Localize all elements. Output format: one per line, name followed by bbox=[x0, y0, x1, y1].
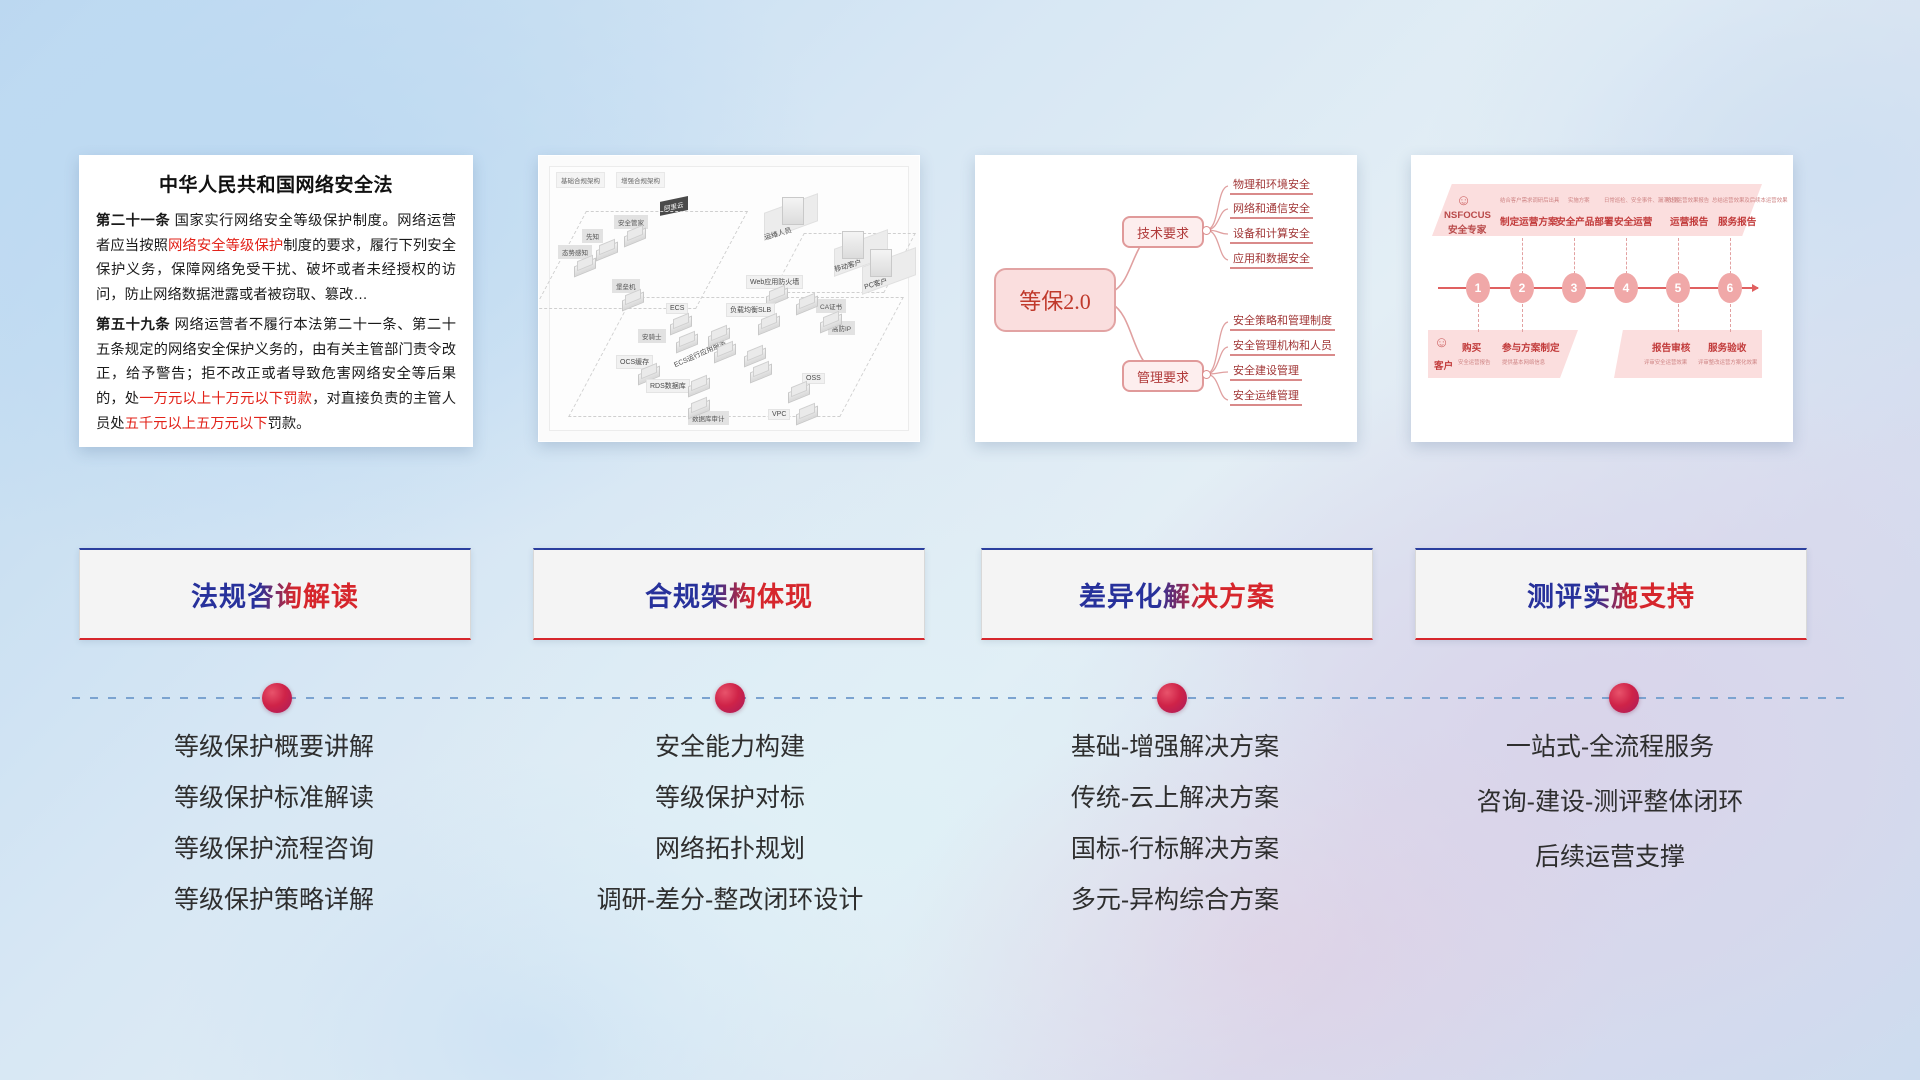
flow-bottom-label-6[interactable]: 服务验收 bbox=[1708, 340, 1746, 354]
flow-connector-5 bbox=[1678, 238, 1679, 274]
mindmap-card[interactable]: 等保2.0 技术要求 物理和环境安全 网络和通信安全 设备和计算安全 应用和数据… bbox=[975, 155, 1357, 442]
mindmap-collapse-dot-technical[interactable] bbox=[1202, 226, 1211, 235]
topology-node-taishi bbox=[572, 257, 598, 275]
topology-server-ops bbox=[782, 197, 804, 225]
flow-connector-2 bbox=[1522, 238, 1523, 274]
flow-band-customer-right bbox=[1614, 330, 1762, 378]
topology-label-vpc: VPC bbox=[768, 409, 790, 420]
provider-name: NSFOCUS bbox=[1444, 210, 1491, 221]
topology-label-rds: RDS数据库 bbox=[646, 379, 690, 393]
timeline-dot-2[interactable] bbox=[715, 683, 745, 713]
customer-person-icon: ☺ bbox=[1434, 334, 1449, 351]
list-item[interactable]: 等级保护策略详解 bbox=[64, 888, 484, 913]
topology-tab-enhanced[interactable]: 增强合规架构 bbox=[616, 172, 665, 188]
category-label-solution-text: 差异化解决方案 bbox=[1079, 575, 1275, 614]
category-label-architecture-text: 合规架构体现 bbox=[645, 575, 813, 614]
flow-top-label-3[interactable]: 安全运营 bbox=[1614, 214, 1652, 228]
list-item[interactable]: 调研-差分-整改闭环设计 bbox=[520, 888, 940, 913]
timeline-track bbox=[72, 697, 1848, 699]
topology-node-guanjia bbox=[622, 227, 648, 245]
topology-node-app-2 bbox=[712, 343, 738, 361]
mindmap-leaf-tech-1[interactable]: 物理和环境安全 bbox=[1230, 176, 1313, 195]
category-label-row: 法规咨询解读 合规架构体现 差异化解决方案 测评实施支持 bbox=[0, 548, 1920, 640]
list-item[interactable]: 等级保护对标 bbox=[520, 786, 940, 811]
flow-top-sub-5: 总结运营效果及后续本运营效果 bbox=[1712, 196, 1787, 204]
mindmap-collapse-dot-management[interactable] bbox=[1202, 370, 1211, 379]
topology-node-vpc bbox=[794, 405, 820, 423]
law-article-59-post: 罚款。 bbox=[268, 416, 311, 432]
law-article-59-number: 第五十九条 bbox=[96, 317, 170, 333]
flow-node-2[interactable]: 2 bbox=[1510, 273, 1534, 303]
flow-node-6[interactable]: 6 bbox=[1718, 273, 1742, 303]
list-item[interactable]: 基础-增强解决方案 bbox=[965, 735, 1385, 760]
mindmap-leaf-mgmt-4[interactable]: 安全运维管理 bbox=[1230, 387, 1302, 406]
mindmap-leaf-tech-3[interactable]: 设备和计算安全 bbox=[1230, 225, 1313, 244]
mindmap-leaf-mgmt-1[interactable]: 安全策略和管理制度 bbox=[1230, 312, 1335, 331]
topology-server-mobile bbox=[842, 231, 864, 259]
detail-column-row: 等级保护概要讲解 等级保护标准解读 等级保护流程咨询 等级保护策略详解 安全能力… bbox=[0, 735, 1920, 965]
detail-column-assessment: 一站式-全流程服务 咨询-建设-测评整体闭环 后续运营支撑 bbox=[1400, 735, 1820, 900]
category-label-assessment-text: 测评实施支持 bbox=[1527, 575, 1695, 614]
flow-top-sub-1: 结合客户需求调研后出具 bbox=[1500, 196, 1559, 204]
mindmap-leaf-tech-4[interactable]: 应用和数据安全 bbox=[1230, 250, 1313, 269]
flow-node-1[interactable]: 1 bbox=[1466, 273, 1490, 303]
topology-node-dbaudit bbox=[686, 399, 712, 417]
flow-top-sub-4: 阶段运营效果报告 bbox=[1666, 196, 1709, 204]
cloud-topology-card[interactable]: 基础合规架构 增强合规架构 阿里云 运维人员 移动客户 PC客户 安全管家 先知… bbox=[538, 155, 920, 442]
flow-top-sub-2: 实施方案 bbox=[1568, 196, 1590, 204]
provider-role: 安全专家 bbox=[1448, 222, 1486, 236]
topology-node-rds bbox=[686, 377, 712, 395]
flow-top-label-5[interactable]: 服务报告 bbox=[1718, 214, 1756, 228]
detail-column-regulation: 等级保护概要讲解 等级保护标准解读 等级保护流程咨询 等级保护策略详解 bbox=[64, 735, 484, 939]
list-item[interactable]: 等级保护概要讲解 bbox=[64, 735, 484, 760]
flow-bottom-sub-2: 提供基本网络信息 bbox=[1502, 358, 1545, 366]
list-item[interactable]: 多元-异构综合方案 bbox=[965, 888, 1385, 913]
timeline-dot-3[interactable] bbox=[1157, 683, 1187, 713]
law-text-card[interactable]: 中华人民共和国网络安全法 第二十一条 国家实行网络安全等级保护制度。网络运营者应… bbox=[79, 155, 473, 447]
list-item[interactable]: 传统-云上解决方案 bbox=[965, 786, 1385, 811]
flow-bottom-label-2[interactable]: 参与方案制定 bbox=[1502, 340, 1560, 354]
list-item[interactable]: 等级保护流程咨询 bbox=[64, 837, 484, 862]
detail-column-architecture: 安全能力构建 等级保护对标 网络拓扑规划 调研-差分-整改闭环设计 bbox=[520, 735, 940, 939]
list-item[interactable]: 后续运营支撑 bbox=[1400, 845, 1820, 870]
list-item[interactable]: 安全能力构建 bbox=[520, 735, 940, 760]
law-article-59-highlight: 一万元以上十万元以下罚款 bbox=[139, 391, 312, 407]
category-label-assessment[interactable]: 测评实施支持 bbox=[1415, 548, 1807, 640]
provider-person-icon: ☺ bbox=[1456, 192, 1471, 209]
service-flow-canvas: ☺ NSFOCUS 安全专家 结合客户需求调研后出具 制定运营方案 实施方案 安… bbox=[1422, 166, 1782, 431]
topology-server-pc bbox=[870, 249, 892, 277]
flow-connector-6 bbox=[1730, 238, 1731, 274]
flow-connector-3 bbox=[1574, 238, 1575, 274]
topology-label-ecs: ECS bbox=[666, 303, 688, 314]
topology-label-anqishi: 安骑士 bbox=[638, 329, 666, 343]
list-item[interactable]: 等级保护标准解读 bbox=[64, 786, 484, 811]
topology-node-gaofang bbox=[818, 313, 844, 331]
mindmap-canvas: 等保2.0 技术要求 物理和环境安全 网络和通信安全 设备和计算安全 应用和数据… bbox=[984, 164, 1348, 433]
law-article-59-highlight-2: 五千元以上五万元以下 bbox=[125, 416, 268, 432]
flow-connector-1-down bbox=[1478, 304, 1479, 332]
category-label-architecture[interactable]: 合规架构体现 bbox=[533, 548, 925, 640]
customer-role: 客户 bbox=[1434, 358, 1453, 372]
mindmap-leaf-tech-2[interactable]: 网络和通信安全 bbox=[1230, 200, 1313, 219]
flow-node-3[interactable]: 3 bbox=[1562, 273, 1586, 303]
image-card-row: 中华人民共和国网络安全法 第二十一条 国家实行网络安全等级保护制度。网络运营者应… bbox=[0, 150, 1920, 450]
topology-node-oss bbox=[786, 383, 812, 401]
mindmap-branch-management[interactable]: 管理要求 bbox=[1122, 360, 1204, 392]
flow-connector-6-down bbox=[1730, 304, 1731, 332]
law-card-title: 中华人民共和国网络安全法 bbox=[96, 170, 456, 197]
list-item[interactable]: 网络拓扑规划 bbox=[520, 837, 940, 862]
timeline-dot-4[interactable] bbox=[1609, 683, 1639, 713]
mindmap-branch-technical[interactable]: 技术要求 bbox=[1122, 216, 1204, 248]
flow-connector-4 bbox=[1626, 238, 1627, 274]
flow-connector-5-down bbox=[1678, 304, 1679, 332]
service-flow-card[interactable]: ☺ NSFOCUS 安全专家 结合客户需求调研后出具 制定运营方案 实施方案 安… bbox=[1411, 155, 1793, 442]
detail-column-solution: 基础-增强解决方案 传统-云上解决方案 国标-行标解决方案 多元-异构综合方案 bbox=[965, 735, 1385, 939]
law-article-21-number: 第二十一条 bbox=[96, 213, 170, 229]
flow-connector-2-down bbox=[1522, 304, 1523, 332]
flow-bottom-sub-6: 评审整改运营方案化效果 bbox=[1698, 358, 1757, 366]
flow-node-4[interactable]: 4 bbox=[1614, 273, 1638, 303]
flow-bottom-sub-5: 评审安全运营效果 bbox=[1644, 358, 1687, 366]
flow-bottom-label-1[interactable]: 购买 bbox=[1462, 340, 1481, 354]
category-label-regulation[interactable]: 法规咨询解读 bbox=[79, 548, 471, 640]
flow-bottom-label-5[interactable]: 报告审核 bbox=[1652, 340, 1690, 354]
law-article-59: 第五十九条 网络运营者不履行本法第二十一条、第二十五条规定的网络安全保护义务的，… bbox=[96, 313, 456, 436]
topology-node-anqishi bbox=[674, 333, 700, 351]
topology-label-ca: CA证书 bbox=[816, 299, 846, 313]
list-item[interactable]: 咨询-建设-测评整体闭环 bbox=[1400, 790, 1820, 815]
category-label-solution[interactable]: 差异化解决方案 bbox=[981, 548, 1373, 640]
flow-top-label-4[interactable]: 运营报告 bbox=[1670, 214, 1708, 228]
topology-node-ca bbox=[794, 295, 820, 313]
list-item[interactable]: 国标-行标解决方案 bbox=[965, 837, 1385, 862]
category-label-regulation-text: 法规咨询解读 bbox=[191, 575, 359, 614]
topology-tab-basic[interactable]: 基础合规架构 bbox=[556, 172, 605, 188]
mindmap-leaf-mgmt-3[interactable]: 安全建设管理 bbox=[1230, 362, 1302, 381]
topology-canvas: 基础合规架构 增强合规架构 阿里云 运维人员 移动客户 PC客户 安全管家 先知… bbox=[549, 166, 909, 431]
mindmap-leaf-mgmt-2[interactable]: 安全管理机构和人员 bbox=[1230, 337, 1335, 356]
law-article-21: 第二十一条 国家实行网络安全等级保护制度。网络运营者应当按照网络安全等级保护制度… bbox=[96, 209, 456, 307]
flow-top-label-2[interactable]: 安全产品部署 bbox=[1556, 214, 1614, 228]
flow-top-label-1[interactable]: 制定运营方案 bbox=[1500, 214, 1558, 228]
topology-node-slb bbox=[756, 315, 782, 333]
law-article-21-highlight: 网络安全等级保护 bbox=[168, 238, 283, 254]
mindmap-root-node[interactable]: 等保2.0 bbox=[994, 268, 1116, 332]
flow-bottom-sub-1: 安全运营报告 bbox=[1458, 358, 1490, 366]
topology-node-app-4 bbox=[748, 363, 774, 381]
flow-node-5[interactable]: 5 bbox=[1666, 273, 1690, 303]
topology-node-ecs bbox=[668, 315, 694, 333]
list-item[interactable]: 一站式-全流程服务 bbox=[1400, 735, 1820, 760]
topology-node-baolei bbox=[620, 291, 646, 309]
timeline-dot-1[interactable] bbox=[262, 683, 292, 713]
